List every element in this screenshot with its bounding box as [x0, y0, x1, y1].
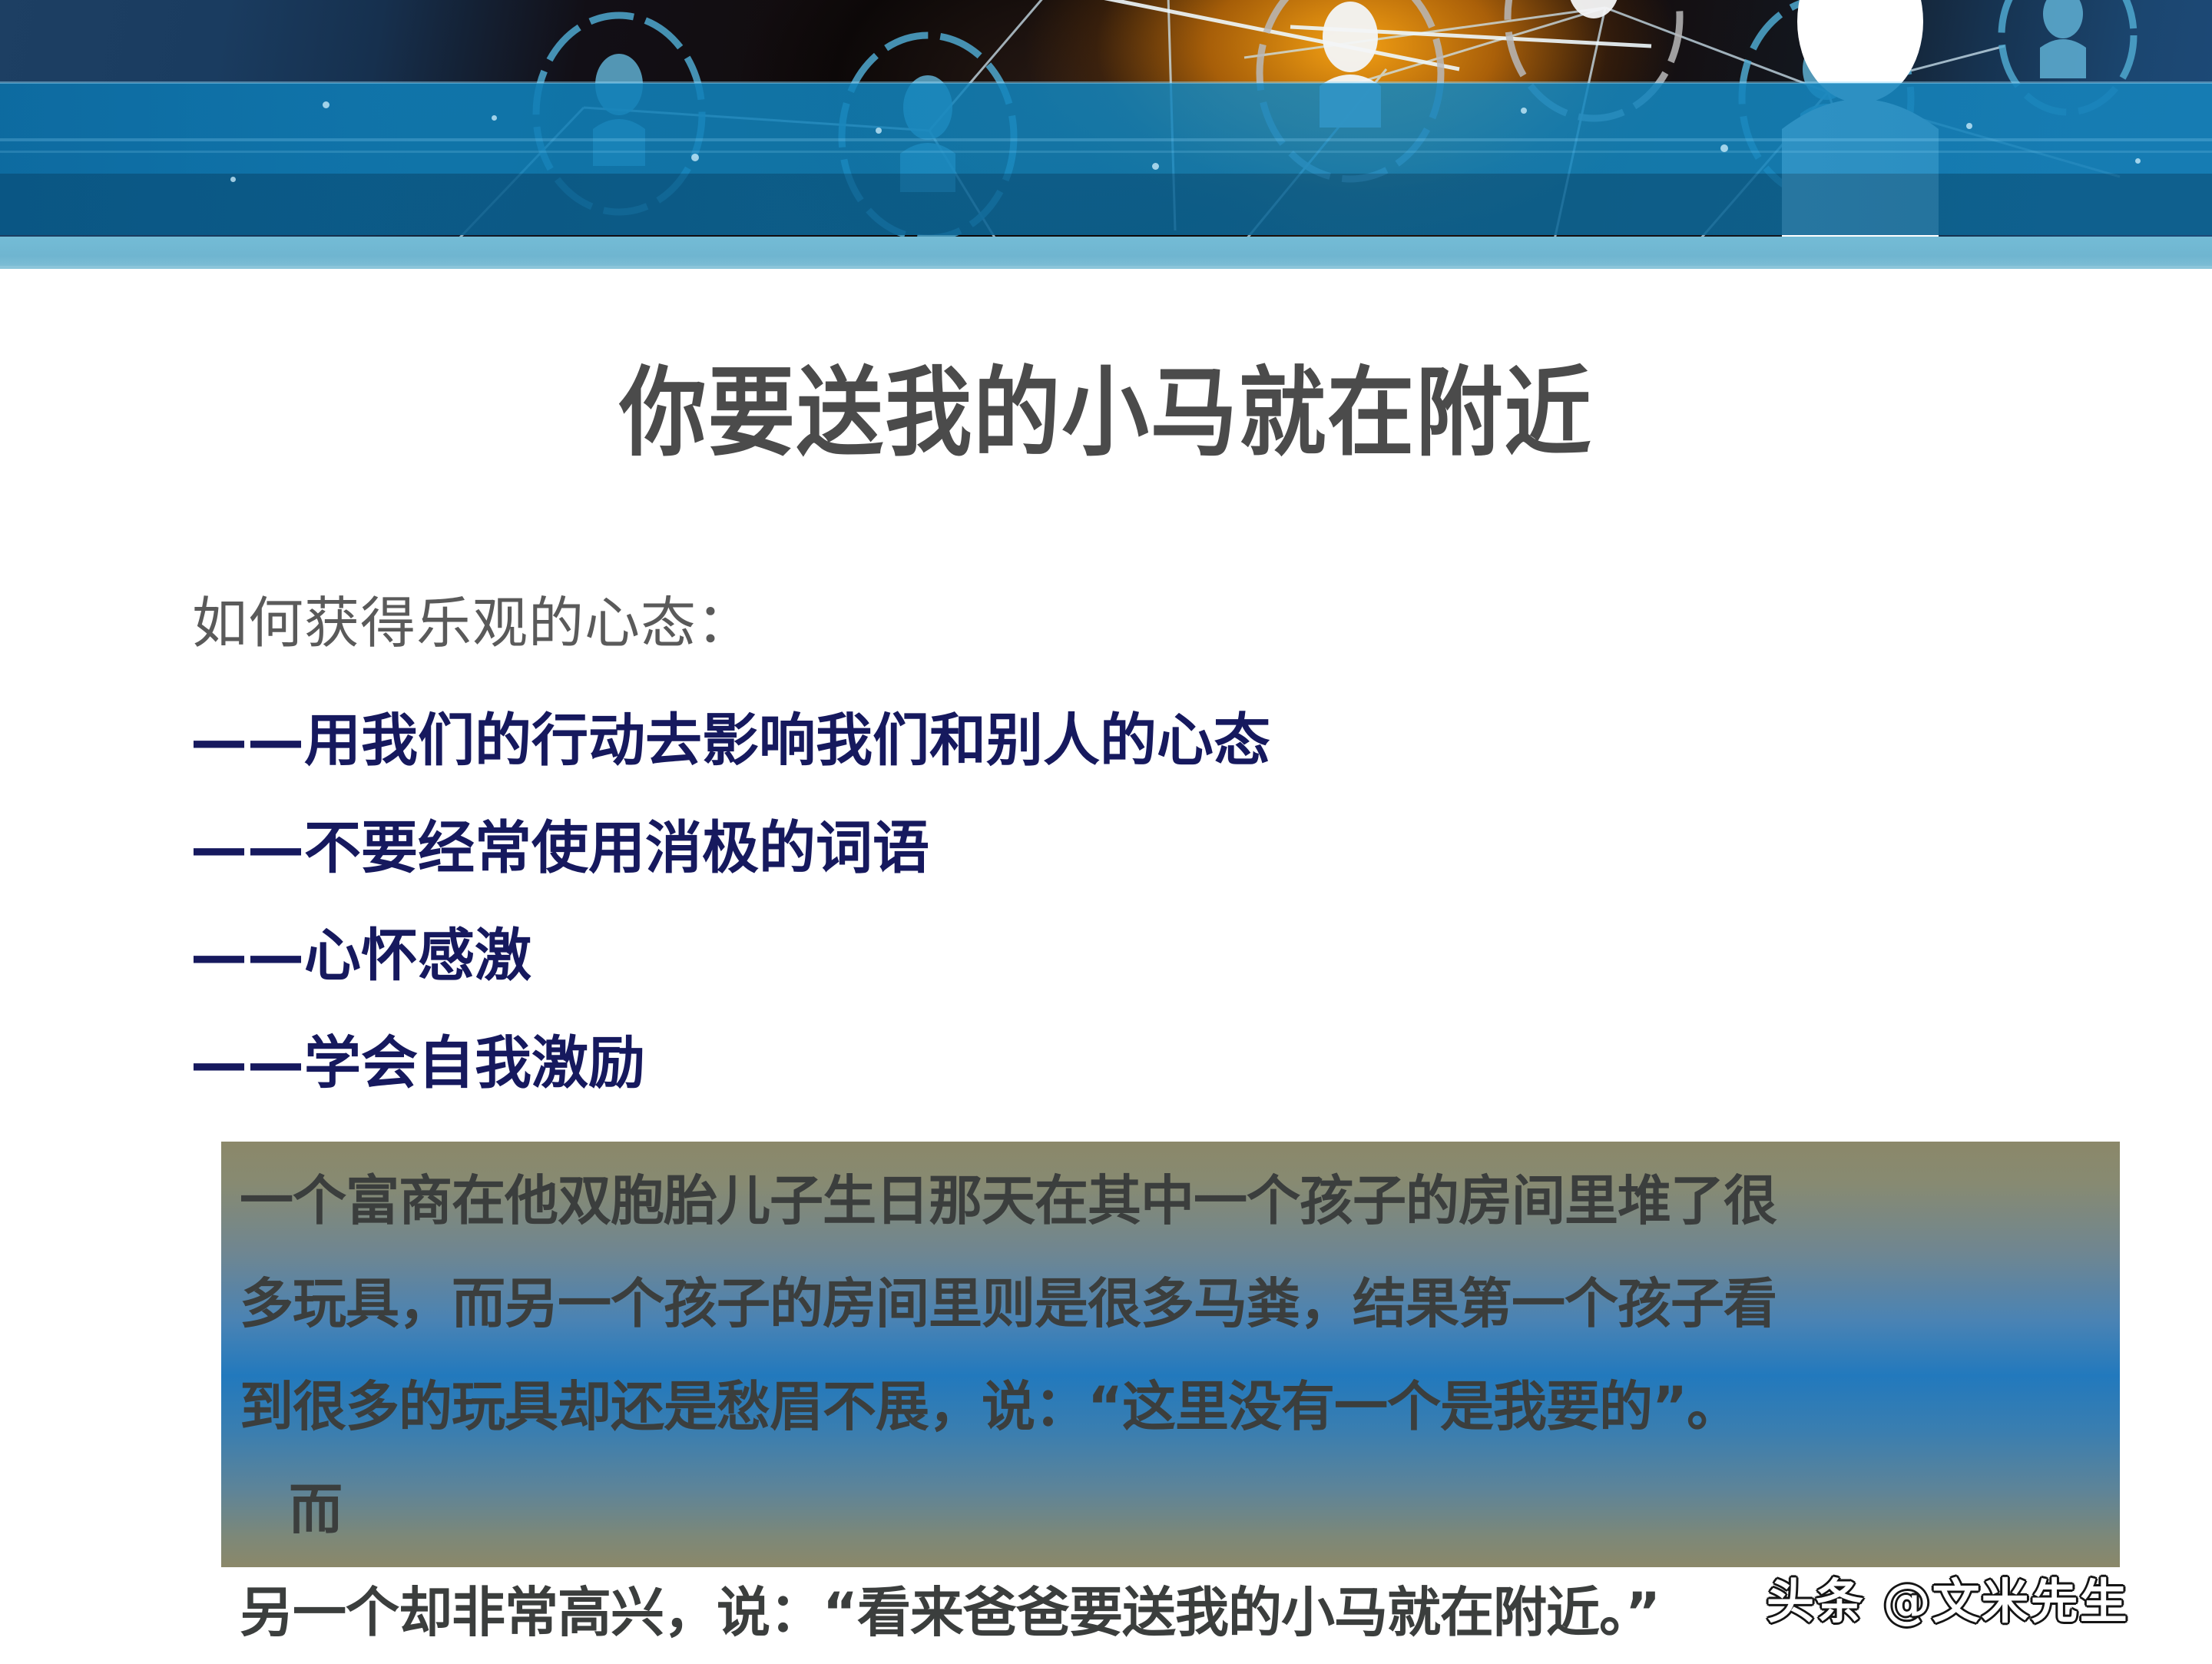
- banner-speck: [1720, 144, 1728, 152]
- watermark: 头条 @文米先生: [1767, 1563, 2129, 1632]
- banner-speck: [492, 115, 497, 121]
- banner-speck: [2135, 158, 2141, 164]
- banner-speck: [876, 128, 882, 134]
- story-line-4: 而: [240, 1458, 2114, 1561]
- banner-hairline-top: [0, 81, 2212, 84]
- banner-bottom-edge: [0, 266, 2212, 269]
- banner-speck: [230, 177, 236, 182]
- banner-band-light: [0, 237, 2212, 269]
- banner-speck: [1521, 108, 1527, 114]
- banner-speck: [323, 101, 329, 108]
- banner-band-bright: [0, 83, 2212, 174]
- bullet-item-4: ——学会自我激励: [190, 1018, 2034, 1125]
- banner-speck: [691, 154, 699, 161]
- page-title: 你要送我的小马就在附近: [111, 363, 2101, 464]
- story-line-1: 一个富商在他双胞胎儿子生日那天在其中一个孩子的房间里堆了很: [240, 1149, 2114, 1252]
- story-line-3: 到很多的玩具却还是愁眉不展，说：“这里没有一个是我要的”。: [240, 1355, 2114, 1458]
- bullet-item-1: ——用我们的行动去影响我们和别人的心态: [190, 695, 2034, 803]
- banner-speck: [1966, 123, 1972, 129]
- banner-hairline-mid: [0, 138, 2212, 141]
- bullet-item-3: ——心怀感激: [190, 910, 2034, 1018]
- banner-speck: [1152, 163, 1159, 170]
- banner-band-dark: [0, 174, 2212, 235]
- bullet-list: ——用我们的行动去影响我们和别人的心态 ——不要经常使用消极的词语 ——心怀感激…: [190, 695, 2034, 1125]
- story-line-2: 多玩具，而另一个孩子的房间里则是很多马粪，结果第一个孩子看: [240, 1252, 2114, 1355]
- header-banner: [0, 0, 2212, 269]
- bullet-item-2: ——不要经常使用消极的词语: [190, 803, 2034, 910]
- lead-text: 如何获得乐观的心态：: [192, 578, 753, 658]
- banner-hairline-mid2: [0, 151, 2212, 153]
